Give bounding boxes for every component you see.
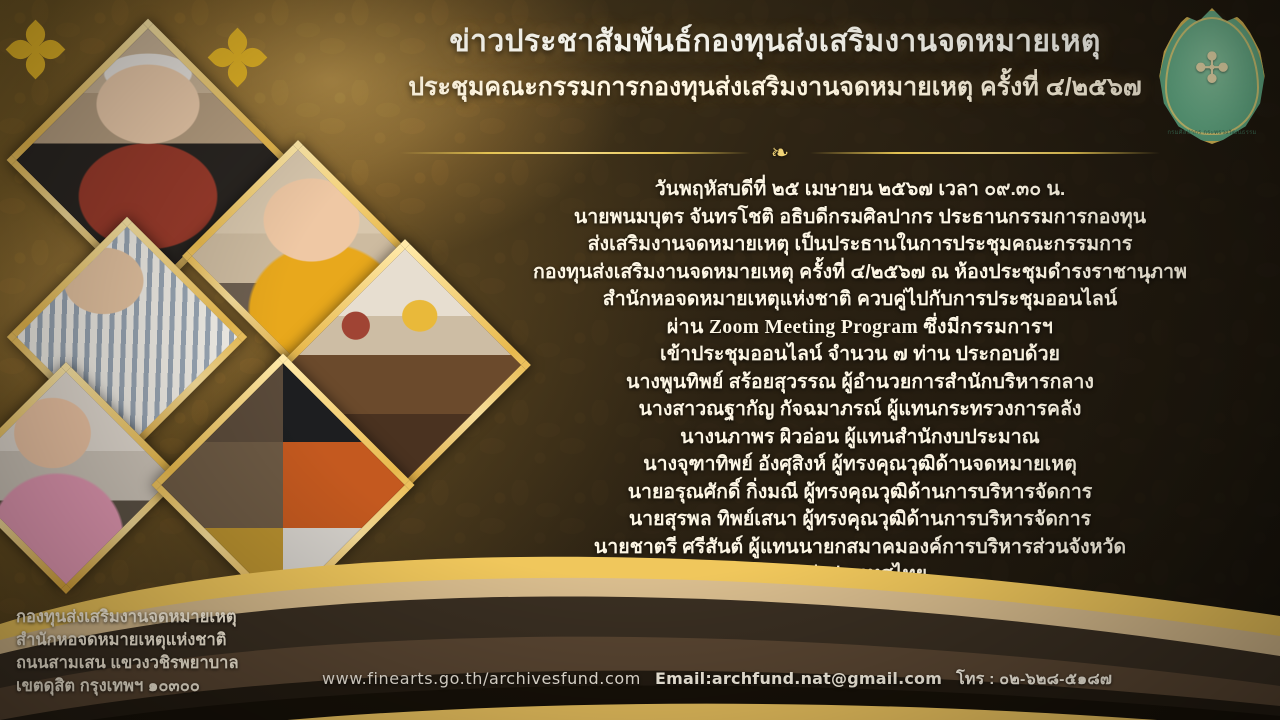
footer-address-line-1: กองทุนส่งเสริมงานจดหมายเหตุ [16, 606, 346, 629]
footer-email-link[interactable]: Email:archfund.nat@gmail.com [655, 669, 942, 688]
announcement-line: นางนภาพร ผิวอ่อน ผู้แทนสำนักงบประมาณ [480, 424, 1240, 452]
announcement-line: เข้าประชุมออนไลน์ จำนวน ๗ ท่าน ประกอบด้ว… [480, 341, 1240, 369]
page-title: ข่าวประชาสัมพันธ์กองทุนส่งเสริมงานจดหมาย… [360, 22, 1190, 63]
emblem-glyph-icon: ✣ [1194, 43, 1229, 92]
announcement-line: กองทุนส่งเสริมงานจดหมายเหตุ ครั้งที่ ๔/๒… [480, 259, 1240, 287]
emblem-caption: กรมศิลปากร กระทรวงวัฒนธรรม [1156, 127, 1268, 137]
thai-floral-ornament-top-left [8, 22, 62, 76]
announcement-line: วันพฤหัสบดีที่ ๒๕ เมษายน ๒๕๖๗ เวลา ๐๙.๓๐… [480, 176, 1240, 204]
divider-ornament-icon: ❧ [771, 140, 789, 166]
announcement-line: นายพนมบุตร จันทรโชติ อธิบดีกรมศิลปากร ปร… [480, 204, 1240, 232]
footer-address-line-2: สำนักหอจดหมายเหตุแห่งชาติ [16, 629, 346, 652]
announcement-line: ส่งเสริมงานจดหมายเหตุ เป็นประธานในการประ… [480, 231, 1240, 259]
footer-contact: www.finearts.go.th/archivesfund.com Emai… [322, 667, 1272, 692]
page-subtitle: ประชุมคณะกรรมการกองทุนส่งเสริมงานจดหมายเ… [360, 71, 1190, 105]
footer-address-line-4: เขตดุสิต กรุงเทพฯ ๑๐๓๐๐ [16, 675, 346, 698]
fine-arts-department-emblem-icon: ✣ กรมศิลปากร กระทรวงวัฒนธรรม [1156, 8, 1268, 144]
announcement-line: นางพูนทิพย์ สร้อยสุวรรณ ผู้อำนวยการสำนัก… [480, 369, 1240, 397]
header-titles: ข่าวประชาสัมพันธ์กองทุนส่งเสริมงานจดหมาย… [360, 22, 1190, 104]
announcement-line: ผ่าน Zoom Meeting Program ซึ่งมีกรรมการฯ [480, 314, 1240, 342]
footer-phone: โทร : ๐๒-๖๒๘-๕๑๘๗ [956, 667, 1112, 692]
decorative-divider: ❧ [400, 140, 1160, 166]
divider-line-left [400, 152, 750, 154]
announcement-line: นางจุฑาทิพย์ อังศุสิงห์ ผู้ทรงคุณวุฒิด้า… [480, 451, 1240, 479]
poster-root: ข่าวประชาสัมพันธ์กองทุนส่งเสริมงานจดหมาย… [0, 0, 1280, 720]
announcement-line: นางสาวณฐากัญ กัจฉมาภรณ์ ผู้แทนกระทรวงการ… [480, 396, 1240, 424]
thai-floral-ornament-top-right [210, 30, 264, 84]
announcement-line: สำนักหอจดหมายเหตุแห่งชาติ ควบคู่ไปกับการ… [480, 286, 1240, 314]
divider-line-right [810, 152, 1160, 154]
footer-address: กองทุนส่งเสริมงานจดหมายเหตุ สำนักหอจดหมา… [16, 606, 346, 698]
footer-website-link[interactable]: www.finearts.go.th/archivesfund.com [322, 669, 641, 688]
footer-address-line-3: ถนนสามเสน แขวงวชิรพยาบาล [16, 652, 346, 675]
announcement-line: นายอรุณศักดิ์ กิ่งมณี ผู้ทรงคุณวุฒิด้านก… [480, 479, 1240, 507]
zoom-tile [154, 442, 283, 528]
